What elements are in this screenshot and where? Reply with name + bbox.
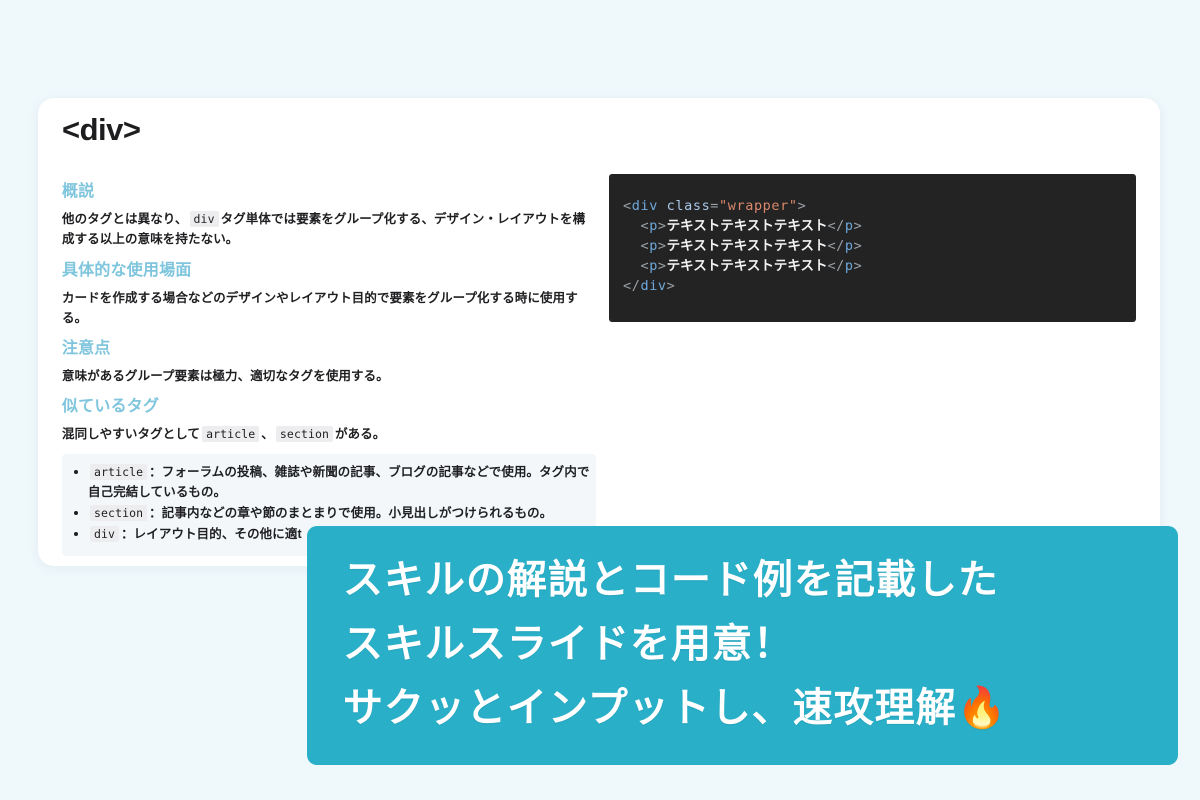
inline-code: section (90, 505, 147, 521)
section-paragraph: カードを作成する場合などのデザインやレイアウト目的で要素をグループ化する時に使用… (62, 288, 596, 329)
code-token: div (632, 198, 658, 214)
caption-line: サクッとインプットし、速攻理解🔥 (343, 676, 1142, 740)
code-token: div (640, 278, 666, 294)
code-token: > (658, 218, 667, 234)
code-token: < (623, 258, 649, 274)
code-line: <div class="wrapper"> (623, 196, 1136, 216)
code-token: p (649, 258, 658, 274)
explanation-column: 概説他のタグとは異なり、divタグ単体では要素をグループ化する、デザイン・レイア… (62, 180, 596, 556)
code-token: < (623, 238, 649, 254)
code-token: p (845, 218, 854, 234)
code-token: < (623, 198, 632, 214)
caption-overlay: スキルの解説とコード例を記載したスキルスライドを用意！サクッとインプットし、速攻… (307, 526, 1178, 765)
code-token: </ (827, 258, 844, 274)
code-token: p (649, 218, 658, 234)
code-token: > (658, 238, 667, 254)
code-token: > (854, 258, 863, 274)
code-token: > (798, 198, 807, 214)
code-token: </ (827, 218, 844, 234)
section-paragraph: 他のタグとは異なり、divタグ単体では要素をグループ化する、デザイン・レイアウト… (62, 209, 596, 250)
code-line: <p>テキストテキストテキスト</p> (623, 256, 1136, 276)
code-token: > (854, 218, 863, 234)
code-token: = (710, 198, 719, 214)
list-item: article：フォーラムの投稿、雑誌や新聞の記事、ブログの記事などで使用。タグ… (64, 462, 594, 503)
skill-slide-card: <div> 概説他のタグとは異なり、divタグ単体では要素をグループ化する、デザ… (38, 98, 1160, 566)
inline-code: article (90, 464, 147, 480)
section-heading: 概説 (62, 180, 596, 204)
code-line: <p>テキストテキストテキスト</p> (623, 236, 1136, 256)
list-item: section：記事内などの章や節のまとまりで使用。小見出しがつけられるもの。 (64, 503, 594, 523)
code-token: p (845, 238, 854, 254)
inline-code: section (276, 426, 333, 442)
caption-lines: スキルの解説とコード例を記載したスキルスライドを用意！サクッとインプットし、速攻… (343, 548, 1142, 740)
section-heading: 具体的な使用場面 (62, 259, 596, 283)
section-heading: 注意点 (62, 337, 596, 361)
code-token: テキストテキストテキスト (667, 238, 828, 253)
inline-code: article (202, 426, 259, 442)
inline-code: div (190, 211, 219, 227)
code-token: > (658, 258, 667, 274)
code-token: class (667, 198, 711, 214)
code-token: テキストテキストテキスト (667, 218, 828, 233)
sections-container: 概説他のタグとは異なり、divタグ単体では要素をグループ化する、デザイン・レイア… (62, 180, 596, 445)
code-token: </ (827, 238, 844, 254)
code-token: p (649, 238, 658, 254)
code-token: p (845, 258, 854, 274)
caption-line: スキルスライドを用意！ (343, 612, 1142, 676)
code-token: < (623, 218, 649, 234)
code-example-block: <div class="wrapper"> <p>テキストテキストテキスト</p… (609, 174, 1136, 322)
code-token: > (854, 238, 863, 254)
inline-code: div (90, 526, 119, 542)
page-title: <div> (62, 112, 141, 148)
code-token: </ (623, 278, 640, 294)
code-token (658, 198, 667, 214)
code-line: <p>テキストテキストテキスト</p> (623, 216, 1136, 236)
section-paragraph: 意味があるグループ要素は極力、適切なタグを使用する。 (62, 366, 596, 386)
code-token: > (667, 278, 676, 294)
code-token: テキストテキストテキスト (667, 258, 828, 273)
code-token: "wrapper" (719, 198, 798, 214)
caption-line: スキルの解説とコード例を記載した (343, 548, 1142, 612)
section-heading: 似ているタグ (62, 395, 596, 419)
section-paragraph: 混同しやすいタグとしてarticle、sectionがある。 (62, 424, 596, 444)
code-line: </div> (623, 276, 1136, 296)
